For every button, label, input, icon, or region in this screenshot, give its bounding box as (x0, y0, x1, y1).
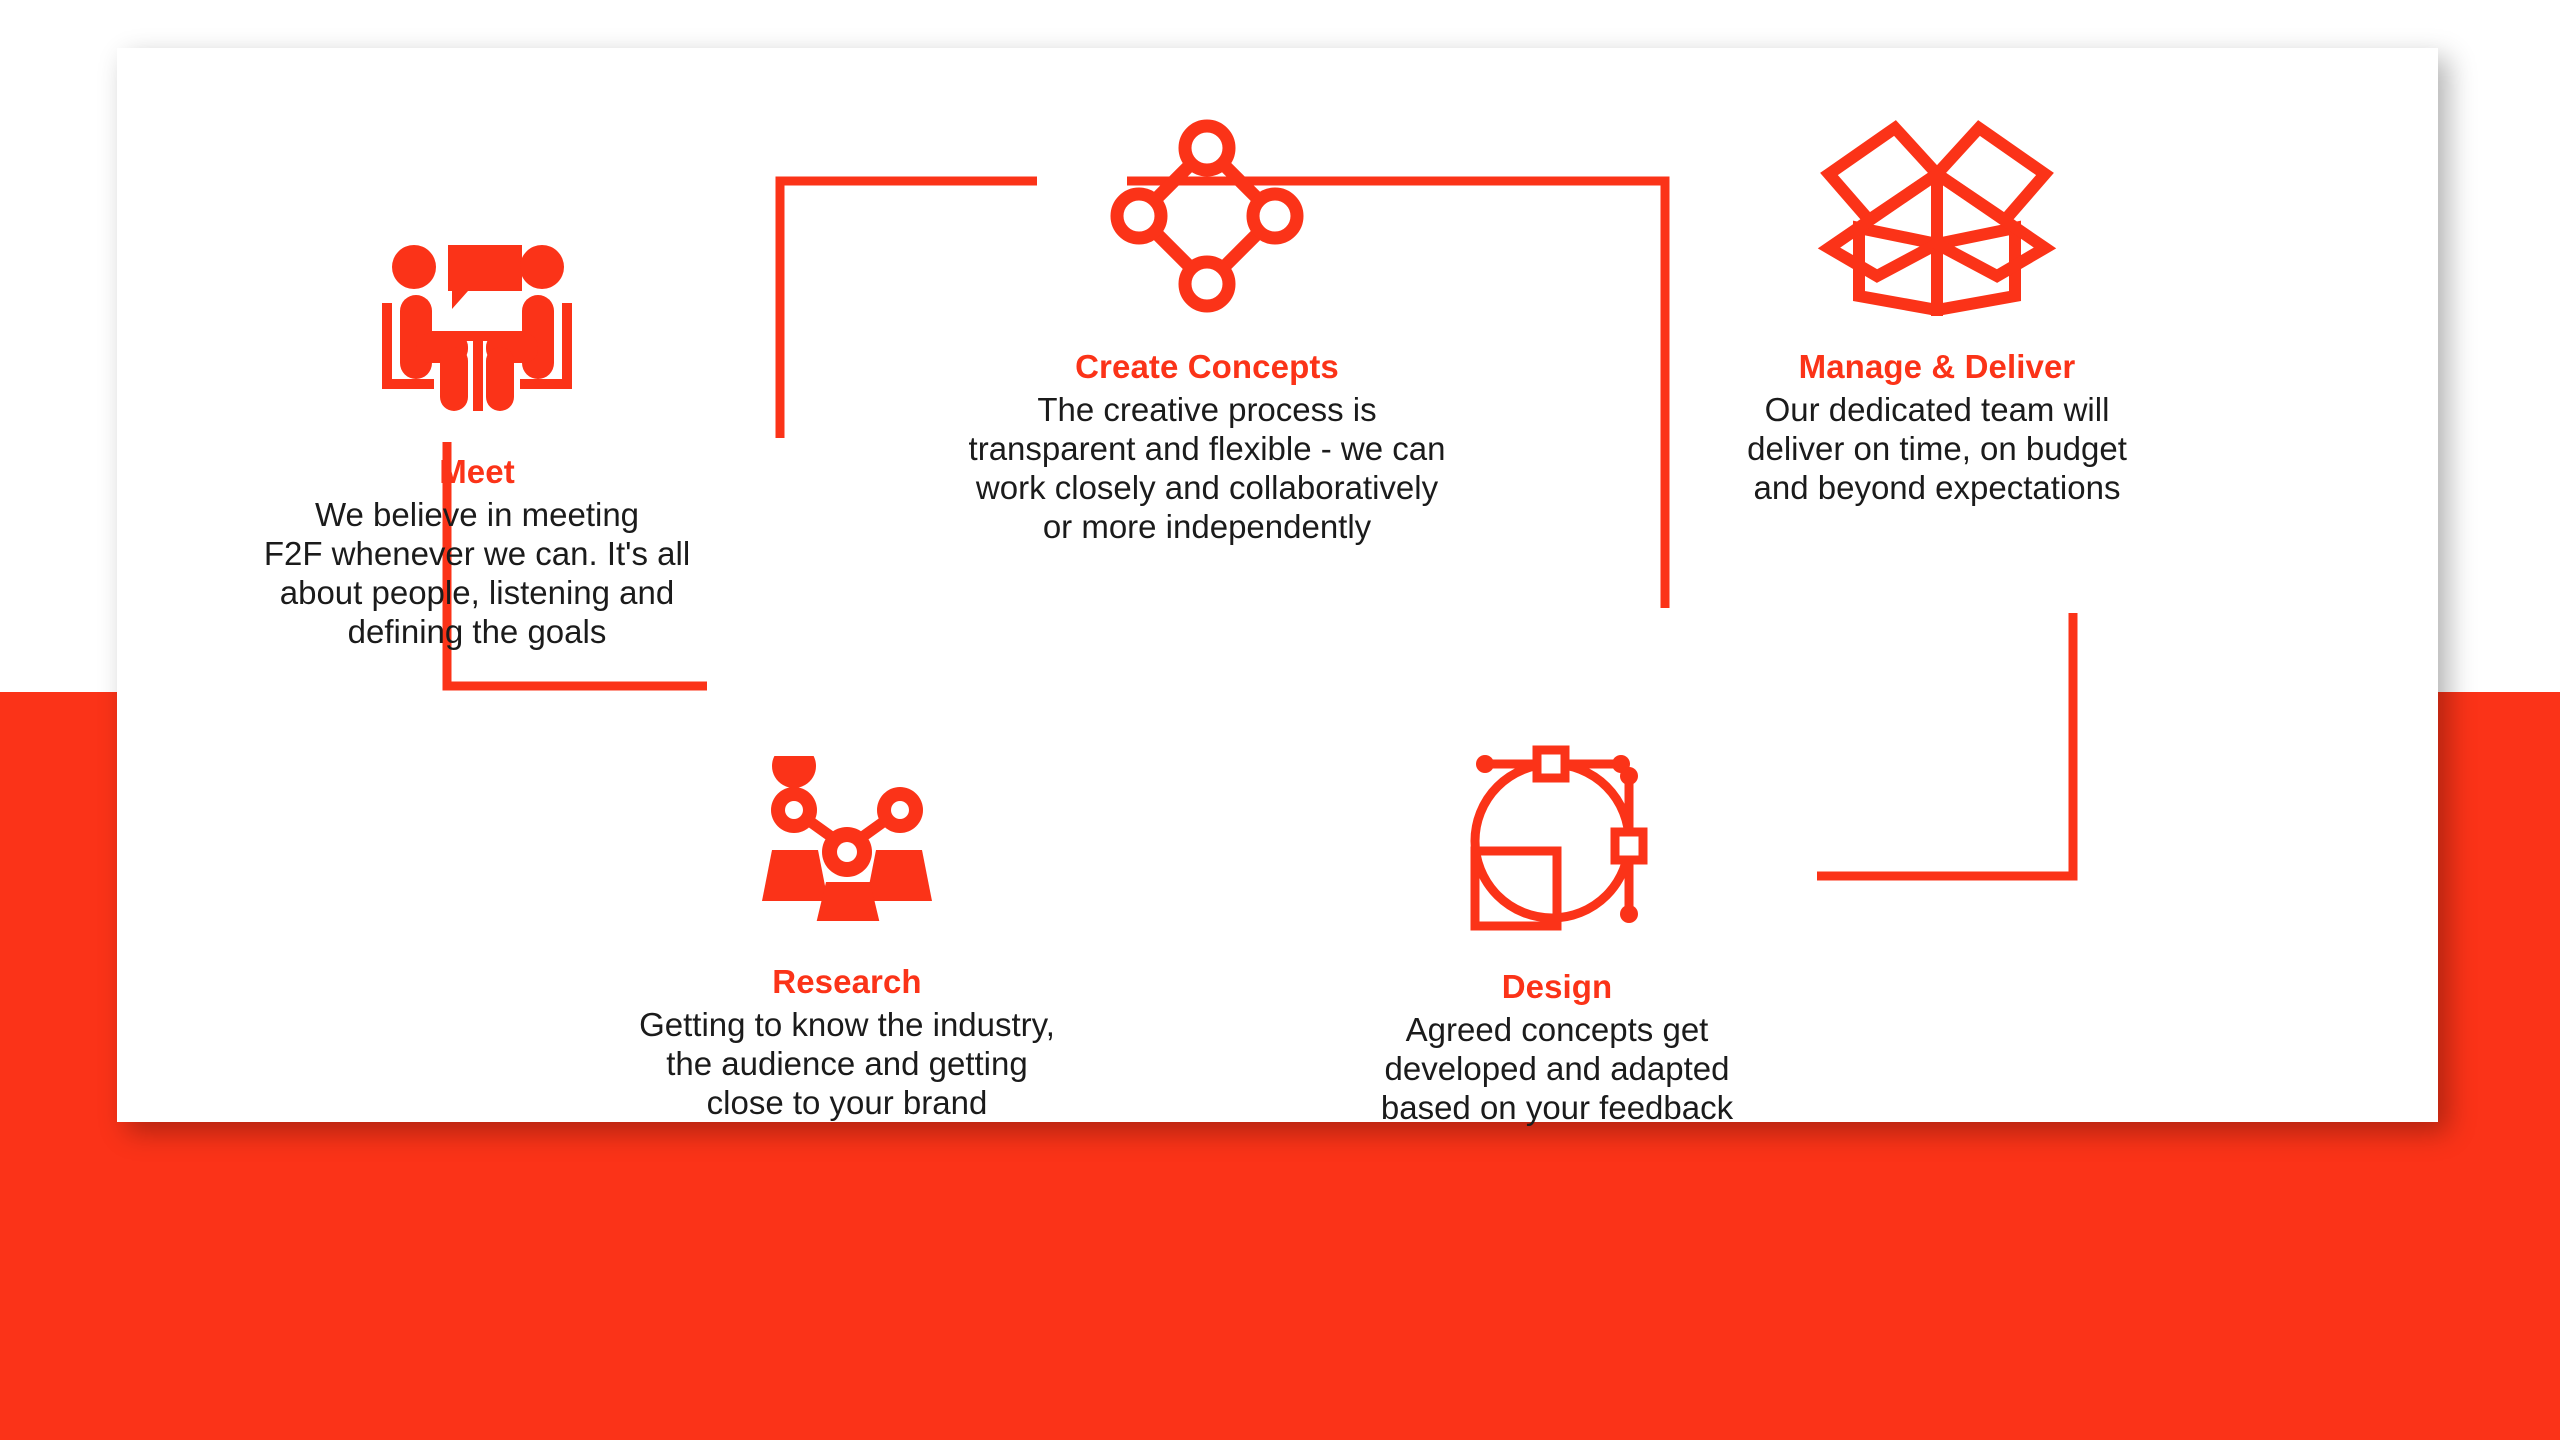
step-research-title: Research (547, 964, 1147, 1000)
step-create-concepts-icon-box (907, 108, 1507, 323)
step-meet-title: Meet (177, 454, 777, 490)
step-create-concepts-description: The creative process is transparent and … (907, 391, 1507, 547)
step-research-description: Getting to know the industry, the audien… (547, 1006, 1147, 1123)
step-meet[interactable]: Meet We believe in meeting F2F whenever … (177, 228, 777, 652)
step-meet-description: We believe in meeting F2F whenever we ca… (177, 496, 777, 652)
diagram-stage: Meet We believe in meeting F2F whenever … (117, 48, 2438, 1122)
step-design-title: Design (1257, 969, 1857, 1005)
step-manage-deliver-description: Our dedicated team will deliver on time,… (1637, 391, 2237, 508)
slide-card: Meet We believe in meeting F2F whenever … (117, 48, 2438, 1122)
meeting-table-people-icon (382, 243, 572, 413)
step-research-icon-box (547, 738, 1147, 938)
diamond-nodes-icon (1107, 116, 1307, 316)
step-manage-deliver-title: Manage & Deliver (1637, 349, 2237, 385)
step-design[interactable]: Design Agreed concepts get developed and… (1257, 728, 1857, 1128)
step-research[interactable]: Research Getting to know the industry, t… (547, 738, 1147, 1123)
step-design-description: Agreed concepts get developed and adapte… (1257, 1011, 1857, 1128)
step-manage-deliver-icon-box (1637, 108, 2237, 323)
step-create-concepts[interactable]: Create Concepts The creative process is … (907, 108, 1507, 547)
step-manage-deliver[interactable]: Manage & Deliver Our dedicated team will… (1637, 108, 2237, 508)
open-box-icon (1817, 116, 2057, 316)
vector-pen-circle-icon (1457, 736, 1657, 936)
step-meet-icon-box (177, 228, 777, 428)
audience-group-icon (752, 756, 942, 921)
step-create-concepts-title: Create Concepts (907, 349, 1507, 385)
step-design-icon-box (1257, 728, 1857, 943)
